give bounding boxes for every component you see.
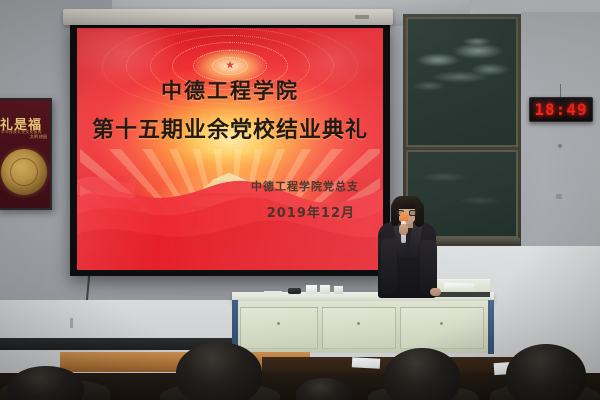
wall-poster: 礼是福 中华传统礼仪文化宣传 文明 校园	[0, 98, 52, 210]
podium-panel-left[interactable]	[240, 307, 318, 349]
speaker-hand-holding-mic	[399, 224, 408, 235]
speaker-hand-on-desk	[430, 288, 441, 296]
lecture-hall-scene: ★	[0, 0, 600, 400]
presentation-slide: ★	[77, 28, 383, 270]
desk-remote[interactable]	[288, 288, 301, 294]
blackboard-upper-panel[interactable]	[406, 17, 518, 147]
audience-paper-center[interactable]	[352, 357, 380, 368]
podium-knob-right[interactable]	[440, 322, 443, 325]
podium-trim-right	[488, 300, 494, 354]
clock-time-display: 18:49	[534, 100, 587, 119]
podium-knob-left[interactable]	[277, 322, 280, 325]
podium-knob-center[interactable]	[357, 322, 360, 325]
podium-paper-2[interactable]	[444, 282, 474, 290]
audience-head-1	[176, 342, 262, 400]
desk-paper-box-1[interactable]	[306, 285, 317, 294]
desk-paper-box-2[interactable]	[320, 285, 330, 294]
slide-text-block: 中德工程学院 第十五期业余党校结业典礼 中德工程学院党总支 2019年12月	[77, 28, 383, 270]
poster-mark: 文明 校园	[30, 134, 47, 140]
projection-screen[interactable]: ★	[70, 22, 390, 276]
led-wall-clock: 18:49	[529, 97, 593, 122]
audience-head-4	[506, 344, 586, 400]
desk-paper-box-3[interactable]	[334, 286, 343, 294]
slide-title-line2: 第十五期业余党校结业典礼	[77, 112, 383, 144]
wall-fixture-dot	[558, 144, 562, 148]
clock-mount-wire	[560, 84, 561, 98]
desk-paper-sheet[interactable]	[264, 291, 282, 294]
speaker-arm-left	[381, 238, 397, 294]
podium-panel-right[interactable]	[400, 307, 484, 349]
wall-scuff-mark	[70, 318, 73, 328]
slide-title-line1: 中德工程学院	[77, 75, 383, 105]
slide-subtitle-date: 2019年12月	[267, 202, 355, 221]
poster-emblem-icon	[1, 149, 47, 195]
speaker-arm-right	[420, 240, 437, 294]
audience-head-3	[384, 348, 460, 400]
projection-screen-roller[interactable]	[63, 9, 393, 25]
wall-socket[interactable]	[556, 194, 562, 199]
slide-subtitle-organization: 中德工程学院党总支	[251, 178, 359, 194]
roller-bracket	[355, 15, 369, 19]
podium-panel-center[interactable]	[322, 307, 396, 349]
